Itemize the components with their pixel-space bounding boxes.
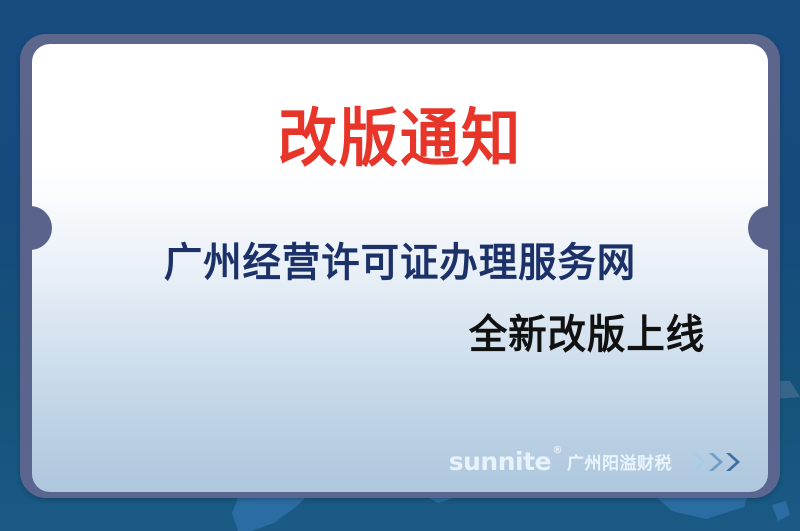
brand-logo-strip: sunnite ® 广州阳溢财税: [449, 449, 740, 474]
chevron-right-icon-1: [690, 451, 706, 473]
brand-wordmark-text: sunnite: [449, 447, 551, 476]
poster-subtitle-relaunch: 全新改版上线: [469, 302, 705, 360]
brand-company-name-cn: 广州阳溢财税: [567, 449, 672, 474]
chevron-right-icon-3: [724, 451, 740, 473]
chevron-right-icon-2: [707, 451, 723, 473]
brand-wordmark: sunnite ®: [449, 449, 551, 474]
poster-subtitle-site-name: 广州经营许可证办理服务网: [47, 230, 754, 288]
registered-trademark-icon: ®: [553, 446, 563, 456]
page-title: 改版通知: [54, 88, 746, 179]
poster-content: 改版通知 广州经营许可证办理服务网 全新改版上线 sunnite ® 广州阳溢财…: [32, 44, 768, 492]
announcement-poster: 改版通知 广州经营许可证办理服务网 全新改版上线 sunnite ® 广州阳溢财…: [0, 0, 800, 531]
triple-chevron-right-icon: [690, 451, 740, 473]
